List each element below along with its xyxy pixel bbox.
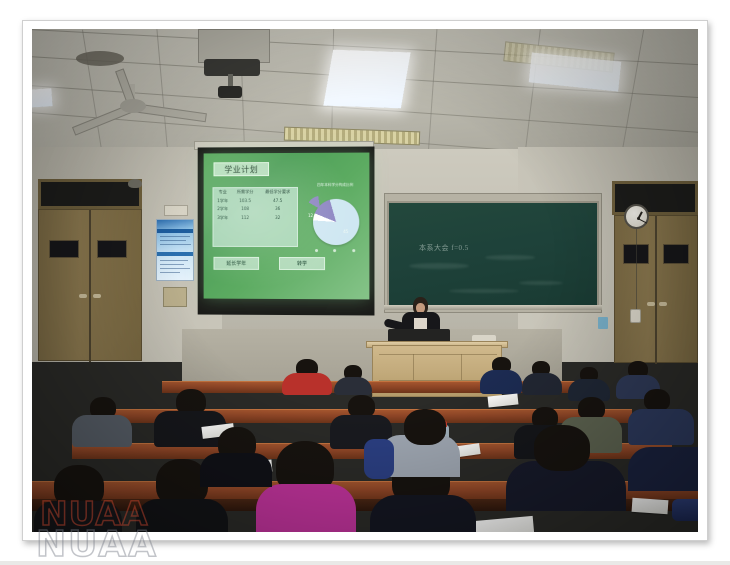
door-window: [663, 244, 689, 264]
ceiling-vent-icon: [76, 51, 124, 66]
table-row: 1学年 103.5 47.5: [213, 197, 296, 206]
backpack: [672, 499, 698, 521]
audience-torso-foreground: [364, 439, 394, 479]
ceiling-fan-hub: [120, 99, 146, 113]
table-header-row: 专业 所需学分 最低学分要求: [213, 188, 296, 197]
table-cell: 103.5: [232, 197, 259, 206]
door-handle-icon[interactable]: [659, 302, 667, 306]
audience-torso: [628, 409, 694, 445]
audience-torso: [480, 370, 522, 394]
ceiling: [32, 29, 698, 157]
fluorescent-light-panel: [323, 50, 410, 109]
legend-marker: [334, 249, 337, 252]
table-row: 2学年 108 36: [213, 205, 296, 214]
projection-screen[interactable]: 学业计划 专业 所需学分 最低学分要求 1学年 103.5: [204, 153, 370, 300]
table-header-cell: 所需学分: [232, 188, 259, 197]
table-cell: 3学年: [213, 214, 231, 223]
legend-marker: [315, 249, 318, 252]
audience-torso-foreground: [370, 495, 476, 532]
chalkboard: 本系大会 f=0.5: [387, 201, 599, 307]
slide-button-label: 延长学年: [226, 260, 246, 267]
slide-button-transfer[interactable]: 转学: [279, 257, 325, 270]
exit-sticker-icon: [598, 317, 608, 329]
table-cell: 112: [232, 214, 259, 223]
door-window: [97, 240, 127, 258]
audience-torso: [72, 415, 132, 447]
pie-chart: 45 12: [307, 193, 361, 247]
pie-slice-exploded: [307, 196, 333, 222]
ceiling-sensor-icon: [128, 179, 142, 188]
chalkboard-text: 本系大会 f=0.5: [419, 243, 469, 253]
slide-button-label: 转学: [297, 260, 307, 267]
audience-torso-foreground: [200, 453, 272, 487]
door-window: [49, 240, 79, 258]
left-door-transom: [38, 179, 142, 209]
slide-table: 专业 所需学分 最低学分要求 1学年 103.5 47.5 2学年: [213, 187, 298, 247]
lecture-hall-photo: 本系大会 f=0.5 学业计划 专业 所需学分: [32, 29, 698, 532]
projector-lens-icon: [218, 86, 242, 98]
table-header-cell: 最低学分要求: [258, 188, 297, 197]
paper-sheet: [632, 498, 669, 514]
notice-poster: [156, 219, 194, 281]
wall-placard: [163, 287, 187, 307]
audience-head: [644, 389, 670, 411]
pie-legend: [307, 249, 363, 252]
table-cell: 1学年: [213, 197, 231, 206]
pie-label-minor: 12: [308, 213, 313, 218]
paper-sheet: [488, 393, 519, 407]
door-handle-icon[interactable]: [79, 294, 87, 298]
table-header-cell: 专业: [213, 188, 231, 197]
audience-torso: [282, 373, 332, 395]
right-double-door[interactable]: [614, 215, 698, 363]
table-row: 3学年 112 32: [213, 214, 296, 223]
slide-title-box: 学业计划: [213, 162, 269, 176]
pie-label-major: 45: [343, 229, 348, 234]
small-wall-sign: [164, 205, 188, 216]
door-split: [89, 210, 91, 362]
slide-title: 学业计划: [224, 164, 258, 175]
audience-head-foreground: [404, 409, 446, 445]
legend-marker: [352, 249, 355, 252]
pie-chart-title: 四年本科学分构成比例: [305, 183, 365, 188]
table-cell: 36: [258, 205, 297, 214]
photo-frame: 本系大会 f=0.5 学业计划 专业 所需学分: [0, 0, 730, 561]
door-handle-icon[interactable]: [647, 302, 655, 306]
wall-clock-icon: [624, 204, 649, 229]
table-cell: 32: [258, 214, 297, 223]
hanging-cable: [636, 229, 637, 311]
wall-socket-icon: [630, 309, 641, 323]
door-handle-icon[interactable]: [93, 294, 101, 298]
audience-torso-foreground: [256, 484, 356, 532]
fluorescent-light-panel: [32, 88, 53, 108]
projector-mount: [198, 29, 270, 63]
audience-torso: [522, 373, 562, 395]
slide-button-extend-year[interactable]: 延长学年: [213, 257, 259, 270]
table-cell: 47.5: [258, 197, 297, 206]
audience-head-foreground: [534, 425, 590, 471]
table-cell: 108: [232, 205, 259, 214]
door-split: [655, 216, 657, 364]
left-double-door[interactable]: [38, 209, 142, 361]
table-cell: 2学年: [213, 205, 231, 214]
audience-torso-foreground: [628, 447, 698, 491]
audience-torso: [334, 377, 372, 395]
watermark-secondary: NUAA: [36, 524, 158, 565]
